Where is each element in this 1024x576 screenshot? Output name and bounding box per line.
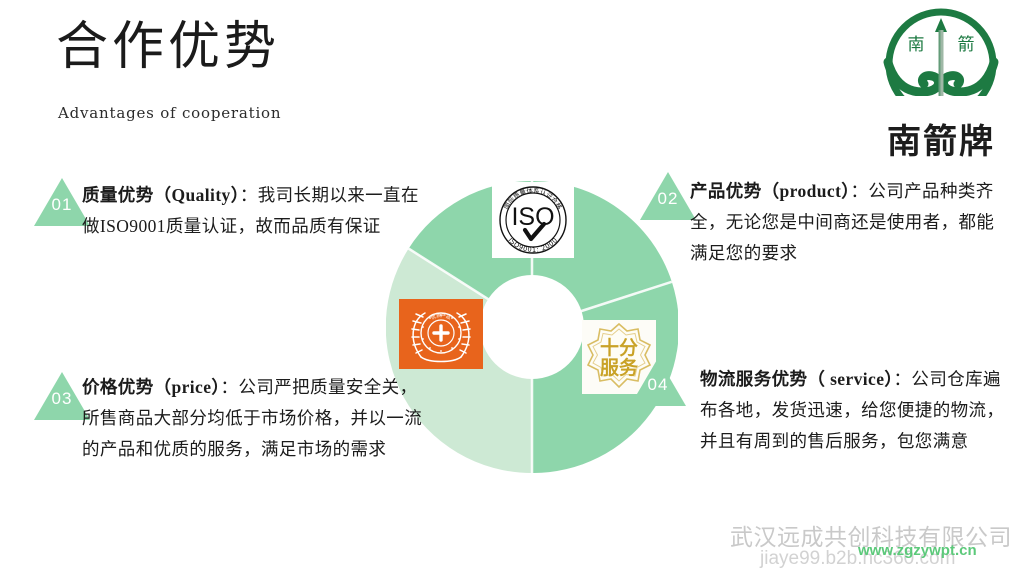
watermark-site-url: www.zgzywpt.cn — [858, 542, 977, 559]
iso-certification-badge: 国际质量体系认证合格 ISO9001: 2000 ISO — [492, 182, 574, 258]
feature-text-02: 产品优势（product）：公司产品种类齐全，无论您是中间商还是使用者，都能满足… — [690, 176, 1012, 269]
feature-number-04: 04 — [630, 375, 686, 395]
donut-hole — [480, 275, 584, 379]
logo-left-char: 南 — [908, 35, 925, 54]
feature-text-03: 价格优势（price）：公司严把质量安全关，所售商品大部分均低于市场价格，并以一… — [82, 372, 430, 465]
feature-lead-01: 质量优势（Quality） — [82, 185, 240, 205]
feature-marker-02[interactable]: 02 — [640, 172, 696, 220]
service-badge-line1: 十分 — [600, 336, 638, 359]
quality-award-badge: 优质产品 — [399, 299, 483, 369]
feature-lead-02: 产品优势（product） — [690, 181, 850, 201]
nanjian-emblem-icon: 南 箭 — [880, 6, 1002, 118]
feature-text-01: 质量优势（Quality）：我司长期以来一直在做ISO9001质量认证，故而品质… — [82, 180, 427, 242]
page-title: 合作优势 — [56, 18, 280, 78]
feature-lead-03: 价格优势（price） — [82, 377, 221, 397]
feature-text-04: 物流服务优势（ service）：公司仓库遍布各地，发货迅速，给您便捷的物流，并… — [700, 364, 1012, 457]
feature-number-02: 02 — [640, 189, 696, 209]
feature-marker-04[interactable]: 04 — [630, 358, 686, 406]
iso-wordmark: ISO — [511, 203, 554, 231]
brand-logo: 南 箭 南箭牌 — [874, 6, 1008, 162]
logo-wordmark: 南箭牌 — [874, 114, 1008, 163]
feature-lead-04: 物流服务优势（ service） — [700, 369, 894, 389]
logo-right-char: 箭 — [958, 35, 975, 54]
page-subtitle: Advantages of cooperation — [58, 104, 281, 122]
